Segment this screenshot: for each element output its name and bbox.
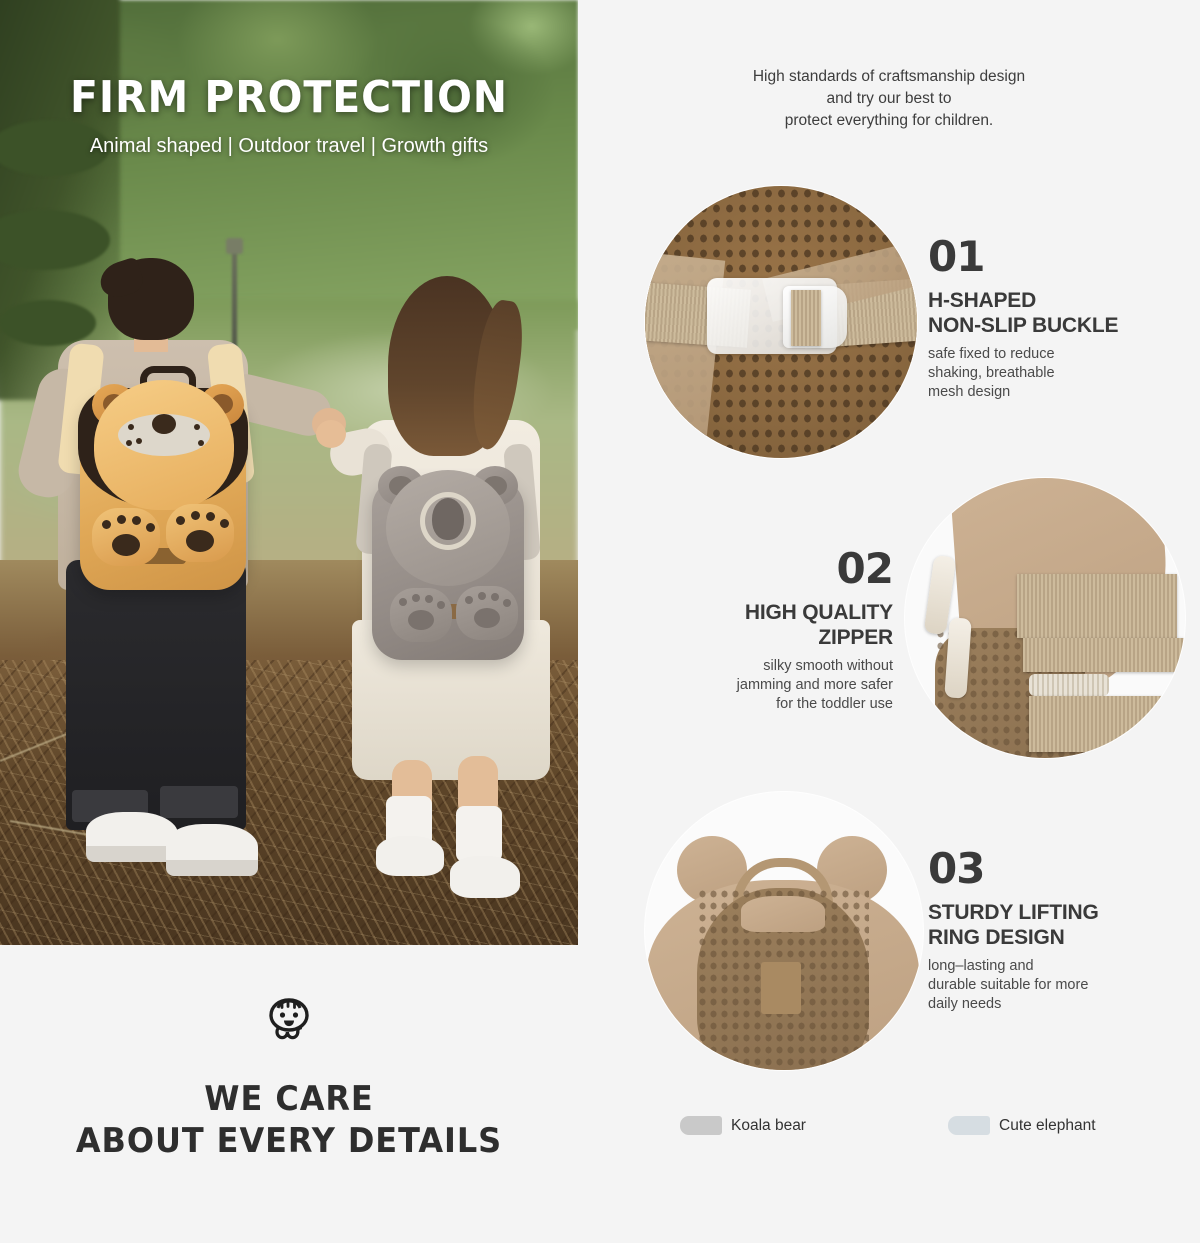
- feature-02-title: HIGH QUALITY ZIPPER: [618, 600, 893, 650]
- backpack-nose: [432, 498, 464, 540]
- feature-01-title-line-2: NON-SLIP BUCKLE: [928, 313, 1158, 338]
- feature-02-text: 02 HIGH QUALITY ZIPPER silky smooth with…: [618, 548, 893, 714]
- hero-text-block: FIRM PROTECTION Animal shaped | Outdoor …: [0, 72, 578, 158]
- feature-03-title-line-1: STURDY LIFTING: [928, 900, 1158, 925]
- swatch-chip-elephant: [948, 1116, 990, 1135]
- intro-line-2: and try our best to: [578, 88, 1200, 110]
- webbing-strap-folded: [1017, 574, 1177, 638]
- baby-face-icon: [258, 990, 320, 1052]
- swatch-koala-bear[interactable]: Koala bear: [680, 1116, 806, 1135]
- feature-01-description: safe fixed to reduce shaking, breathable…: [928, 345, 1158, 402]
- feature-01-title: H-SHAPED NON-SLIP BUCKLE: [928, 288, 1158, 338]
- zipper-teeth: [1029, 674, 1109, 696]
- backpack-paw-toe: [465, 596, 473, 604]
- feature-01-number: 01: [928, 236, 1158, 278]
- backpack-paw-toe: [206, 512, 215, 521]
- backpack-eye-dot: [128, 424, 134, 430]
- feature-02-desc-line-3: for the toddler use: [618, 695, 893, 714]
- backpack-paw-toe: [102, 520, 111, 529]
- backpack-paw-pad: [112, 534, 140, 556]
- backpack-paw-toe: [399, 598, 407, 606]
- feature-03-desc-line-1: long–lasting and: [928, 957, 1158, 976]
- feature-01-title-line-1: H-SHAPED: [928, 288, 1158, 313]
- backpack-eye-dot: [198, 440, 204, 446]
- feature-01-desc-line-1: safe fixed to reduce: [928, 345, 1158, 364]
- backpack-eye-dot: [194, 424, 200, 430]
- girl-shoe: [450, 856, 520, 898]
- hero-title: FIRM PROTECTION: [20, 72, 558, 123]
- webbing-through-buckle: [791, 290, 821, 346]
- intro-line-1: High standards of craftsmanship design: [578, 66, 1200, 88]
- features-column: High standards of craftsmanship design a…: [578, 0, 1200, 1243]
- backpack-paw-toe: [412, 594, 420, 602]
- conifer-branch: [0, 300, 96, 346]
- feature-03-number: 03: [928, 848, 1158, 890]
- webbing-strap-bottom: [1029, 696, 1185, 752]
- girl-hand: [316, 420, 346, 448]
- color-swatch-row: Koala bear Cute elephant: [578, 1108, 1200, 1148]
- girl-sock: [456, 806, 502, 862]
- backpack-eye-dot: [126, 440, 132, 446]
- feature-02-image: [905, 478, 1185, 758]
- feature-02-number: 02: [618, 548, 893, 590]
- hero-section: FIRM PROTECTION Animal shaped | Outdoor …: [0, 0, 578, 945]
- boy-shoe-sole: [86, 846, 178, 862]
- intro-line-3: protect everything for children.: [578, 110, 1200, 132]
- intro-paragraph: High standards of craftsmanship design a…: [578, 66, 1200, 132]
- backpack-paw-toe: [132, 516, 141, 525]
- feature-01-desc-line-2: shaking, breathable: [928, 364, 1158, 383]
- backpack-paw-toe: [491, 593, 499, 601]
- backpack-nose: [152, 414, 176, 434]
- we-care-section: WE CARE ABOUT EVERY DETAILS: [0, 990, 578, 1162]
- backpack-eye-dot: [136, 438, 142, 444]
- feature-01-text: 01 H-SHAPED NON-SLIP BUCKLE safe fixed t…: [928, 236, 1158, 402]
- we-care-line-2: ABOUT EVERY DETAILS: [17, 1120, 560, 1162]
- backpack-paw-toe: [146, 523, 155, 532]
- backpack-paw-pad: [408, 610, 434, 630]
- we-care-heading: WE CARE ABOUT EVERY DETAILS: [17, 1078, 560, 1162]
- backpack-paw-toe: [478, 592, 486, 600]
- backpack-paw-toe: [437, 601, 445, 609]
- swatch-chip-koala: [680, 1116, 722, 1135]
- backpack-paw-toe: [117, 515, 126, 524]
- boy-shoe-sole: [166, 860, 258, 876]
- feature-02-description: silky smooth without jamming and more sa…: [618, 657, 893, 714]
- feature-03-description: long–lasting and durable suitable for mo…: [928, 957, 1158, 1014]
- backpack-paw-toe: [191, 511, 200, 520]
- backpack-paw-toe: [220, 519, 229, 528]
- feature-01-desc-line-3: mesh design: [928, 383, 1158, 402]
- swatch-label-elephant: Cute elephant: [999, 1117, 1096, 1135]
- feature-03-title: STURDY LIFTING RING DESIGN: [928, 900, 1158, 950]
- backpack-paw-pad: [186, 530, 214, 552]
- feature-03-desc-line-3: daily needs: [928, 995, 1158, 1014]
- backpack-paw-toe: [176, 516, 185, 525]
- backpack-paw-toe: [425, 595, 433, 603]
- park-lamp-head: [226, 238, 243, 254]
- brand-tag: [761, 962, 801, 1014]
- swatch-label-koala: Koala bear: [731, 1117, 806, 1135]
- feature-03-text: 03 STURDY LIFTING RING DESIGN long–lasti…: [928, 848, 1158, 1014]
- swatch-cute-elephant[interactable]: Cute elephant: [948, 1116, 1096, 1135]
- we-care-line-1: WE CARE: [17, 1078, 560, 1120]
- backpack-paw-toe: [503, 599, 511, 607]
- feature-02-desc-line-1: silky smooth without: [618, 657, 893, 676]
- feature-02-title-line-1: HIGH QUALITY: [618, 600, 893, 625]
- feature-01-image: [645, 186, 917, 458]
- webbing-strap-lower: [1023, 638, 1185, 672]
- feature-03-image: [645, 792, 923, 1070]
- feature-03-desc-line-2: durable suitable for more: [928, 976, 1158, 995]
- feature-02-desc-line-2: jamming and more safer: [618, 676, 893, 695]
- feature-02-title-line-2: ZIPPER: [618, 625, 893, 650]
- backpack-paw-pad: [474, 608, 500, 628]
- boy-pant-cuff: [160, 786, 238, 818]
- feature-03-title-line-2: RING DESIGN: [928, 925, 1158, 950]
- shoulder-strap-pad: [741, 896, 825, 932]
- girl-shoe: [376, 836, 444, 876]
- hero-subtitle: Animal shaped | Outdoor travel | Growth …: [0, 135, 578, 158]
